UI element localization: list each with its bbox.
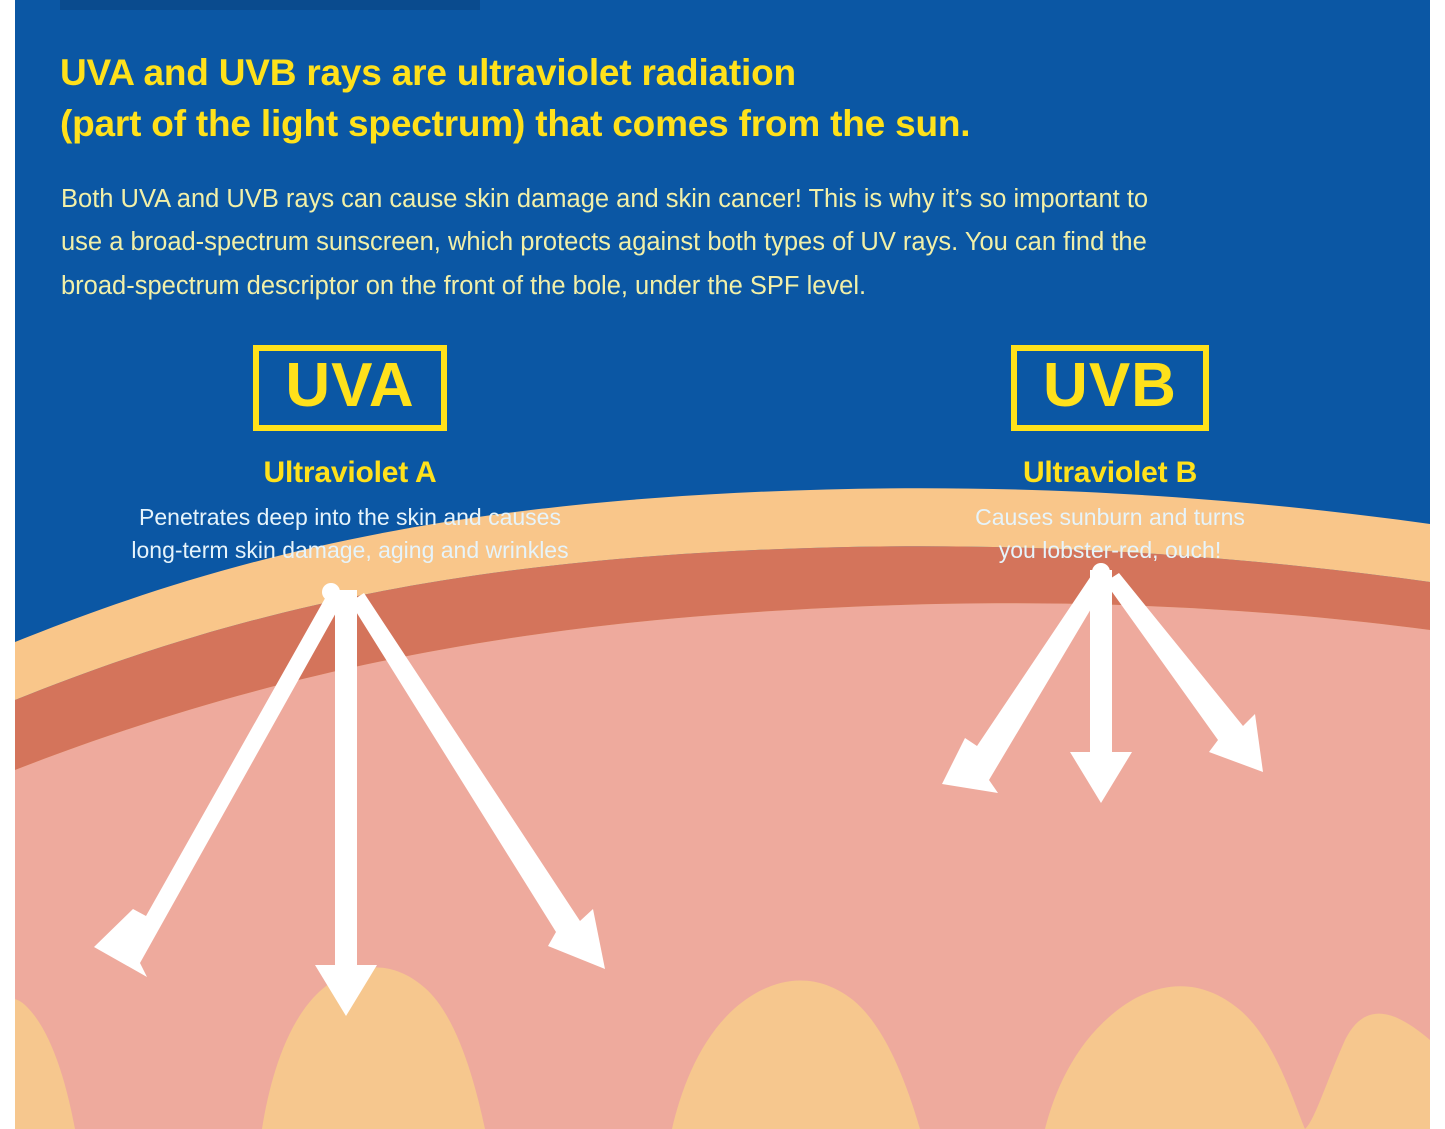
uva-badge: UVA — [253, 345, 446, 431]
body-line-3: broad-spectrum descriptor on the front o… — [61, 265, 1381, 309]
headline-line-1: UVA and UVB rays are ultraviolet radiati… — [60, 47, 1380, 98]
uvb-title: Ultraviolet B — [850, 456, 1370, 490]
uvb-description-line-2: you lobster-red, ouch! — [850, 534, 1370, 567]
uva-badge-label: UVA — [285, 355, 414, 417]
body-line-1: Both UVA and UVB rays can cause skin dam… — [61, 178, 1381, 222]
uvb-description-line-1: Causes sunburn and turns — [850, 501, 1370, 534]
uva-description-line-1: Penetrates deep into the skin and causes — [90, 501, 610, 534]
uv-infographic: UVA and UVB rays are ultraviolet radiati… — [0, 0, 1445, 1129]
uvb-description: Causes sunburn and turns you lobster-red… — [850, 501, 1370, 566]
uva-title: Ultraviolet A — [90, 456, 610, 490]
uva-description-line-2: long-term skin damage, aging and wrinkle… — [90, 534, 610, 567]
uva-column: UVA Ultraviolet A Penetrates deep into t… — [90, 345, 610, 566]
page-title: UVA and UVB rays are ultraviolet radiati… — [60, 47, 1380, 149]
blue-background-panel: UVA and UVB rays are ultraviolet radiati… — [15, 0, 1430, 1129]
uva-description: Penetrates deep into the skin and causes… — [90, 501, 610, 566]
uvb-badge-label: UVB — [1043, 355, 1177, 417]
uvb-column: UVB Ultraviolet B Causes sunburn and tur… — [850, 345, 1370, 566]
headline-line-2: (part of the light spectrum) that comes … — [60, 98, 1380, 149]
uva-ray-apex — [322, 583, 340, 601]
body-paragraph: Both UVA and UVB rays can cause skin dam… — [61, 178, 1381, 310]
uvb-badge: UVB — [1011, 345, 1209, 431]
body-line-2: use a broad-spectrum sunscreen, which pr… — [61, 221, 1381, 265]
